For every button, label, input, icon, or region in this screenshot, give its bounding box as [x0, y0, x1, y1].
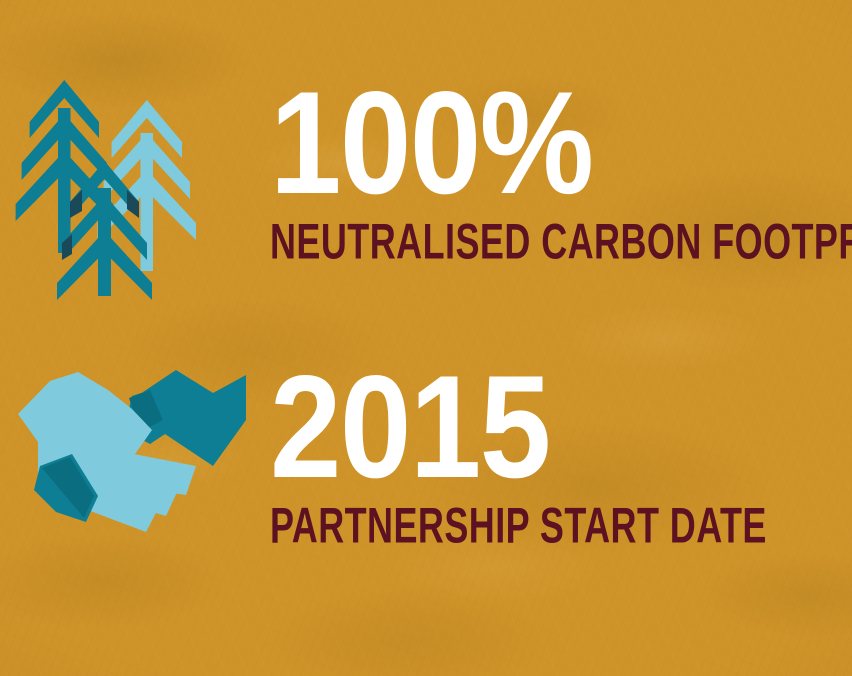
pine-trees-icon	[0, 78, 270, 308]
stat-number-carbon: 100%	[270, 80, 852, 206]
handshake-illustration	[0, 362, 270, 542]
stat-text-carbon: 100% NEUTRALISED CARBON FOOTPRINT	[270, 78, 852, 261]
stat-block-partnership: 2015 PARTNERSHIP START DATE	[0, 362, 852, 545]
stat-number-partnership: 2015	[270, 364, 817, 490]
pine-trees-illustration	[0, 78, 270, 308]
stat-caption-partnership: PARTNERSHIP START DATE	[270, 500, 767, 550]
handshake-right-hand-teal	[124, 370, 246, 466]
stat-block-carbon: 100% NEUTRALISED CARBON FOOTPRINT	[0, 78, 852, 308]
handshake-icon	[0, 362, 270, 542]
stat-text-partnership: 2015 PARTNERSHIP START DATE	[270, 362, 852, 545]
sustainability-stats-infographic: 100% NEUTRALISED CARBON FOOTPRINT	[0, 0, 852, 676]
stat-caption-carbon: NEUTRALISED CARBON FOOTPRINT	[270, 216, 852, 266]
